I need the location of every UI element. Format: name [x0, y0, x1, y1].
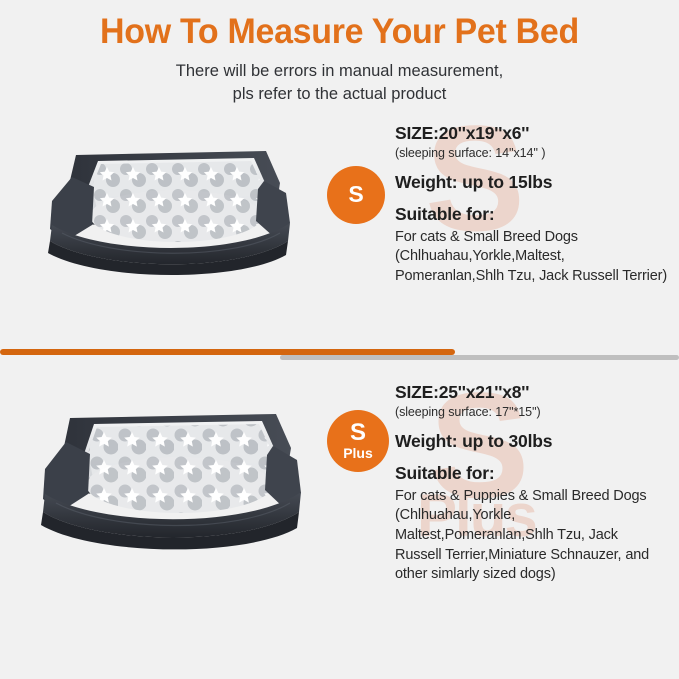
size-badge-label-sub: Plus: [343, 446, 373, 460]
size-badge-small: S: [327, 166, 385, 224]
spec-size-small: SIZE:20''x19''x6'': [395, 123, 667, 144]
subtitle-line-2: pls refer to the actual product: [105, 83, 575, 106]
spec-weight-small: Weight: up to 15lbs: [395, 172, 667, 193]
page-title: How To Measure Your Pet Bed: [10, 14, 669, 51]
spec-size-splus: SIZE:25''x21''x8'': [395, 382, 667, 403]
page-subtitle: There will be errors in manual measureme…: [105, 60, 575, 107]
spec-column-splus: S Plus SIZE:25''x21''x8'' (sleeping surf…: [395, 382, 679, 586]
product-photo-column-splus: [0, 382, 320, 612]
size-badge-label-main: S: [348, 183, 363, 206]
spec-suitable-body-small: For cats & Small Breed Dogs (Chlhuahau,Y…: [395, 228, 667, 287]
section-divider: [0, 346, 679, 360]
divider-orange-bar: [0, 349, 455, 355]
pet-bed-image-splus: [34, 400, 312, 552]
spec-weight-splus: Weight: up to 30lbs: [395, 431, 667, 452]
pet-bed-image-small: [42, 137, 300, 277]
size-section-small: S S SIZE:20''x19''x6'' (sleeping surface…: [0, 123, 679, 338]
spec-suitable-label-splus: Suitable for:: [395, 463, 667, 484]
spec-suitable-body-splus: For cats & Puppies & Small Breed Dogs (C…: [395, 487, 667, 586]
product-photo-column-small: [0, 123, 320, 338]
divider-gray-bar: [280, 355, 679, 360]
size-section-splus: S Plus S Plus SIZE:25''x21''x8'' (sleepi…: [0, 382, 679, 612]
size-badge-label-main: S: [350, 421, 366, 445]
size-badge-splus: S Plus: [327, 410, 389, 472]
spec-suitable-label-small: Suitable for:: [395, 204, 667, 225]
subtitle-line-1: There will be errors in manual measureme…: [105, 60, 575, 83]
spec-sleeping-surface-splus: (sleeping surface: 17''*15''): [395, 405, 667, 419]
spec-column-small: S SIZE:20''x19''x6'' (sleeping surface: …: [395, 123, 679, 287]
page-header: How To Measure Your Pet Bed There will b…: [0, 0, 679, 107]
spec-sleeping-surface-small: (sleeping surface: 14''x14'' ): [395, 146, 667, 160]
